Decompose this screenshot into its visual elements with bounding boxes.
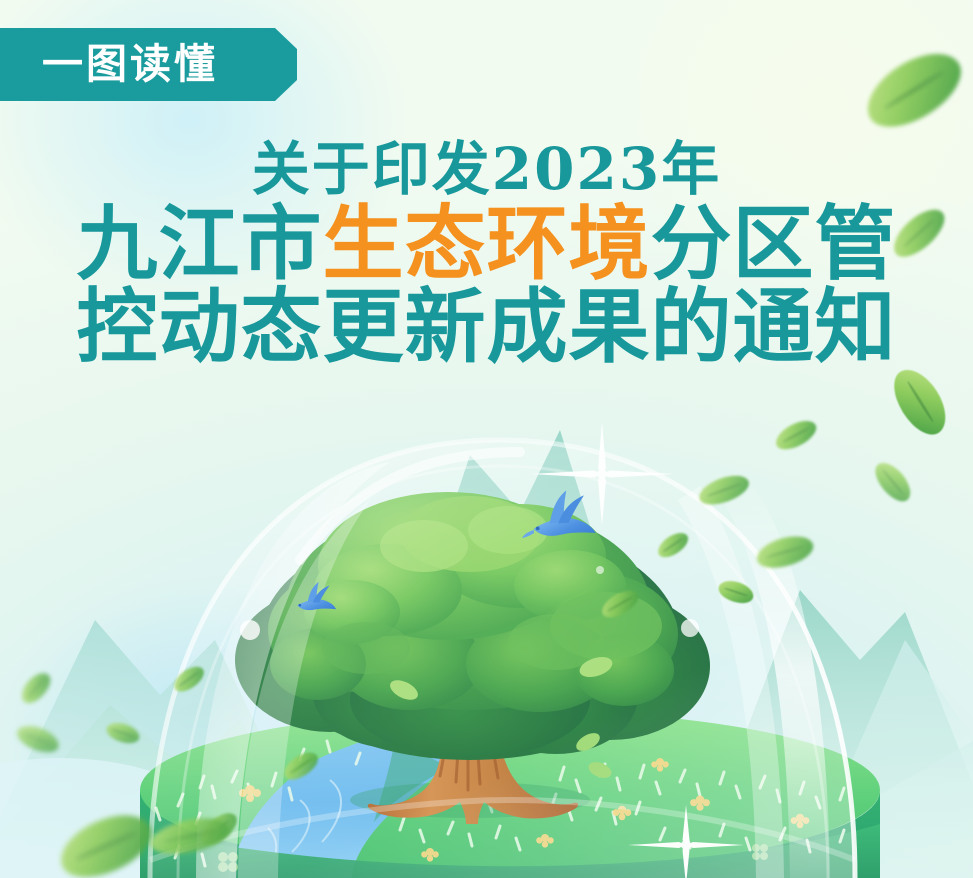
title-segment-teal: 关于印发2023年 [252, 135, 721, 203]
title-segment-highlight: 生态环境 [322, 197, 650, 292]
title-segment-teal: 控动态更新成果的通知 [76, 280, 896, 375]
title-line-1: 关于印发2023年 [0, 140, 973, 198]
title-line-3: 控动态更新成果的通知 [0, 287, 973, 368]
background-wash-bottom-left [0, 518, 480, 878]
infographic-poster: 一图读懂 关于印发2023年 九江市生态环境分区管 控动态更新成果的通知 [0, 0, 973, 878]
title-line-2: 九江市生态环境分区管 [0, 204, 973, 285]
title-segment-teal: 九江市 [76, 197, 322, 292]
read-in-one-chart-badge[interactable]: 一图读懂 [0, 28, 297, 101]
badge-label: 一图读懂 [42, 44, 218, 85]
title-segment-teal: 分区管 [651, 197, 897, 292]
page-title: 关于印发2023年 九江市生态环境分区管 控动态更新成果的通知 [0, 140, 973, 368]
